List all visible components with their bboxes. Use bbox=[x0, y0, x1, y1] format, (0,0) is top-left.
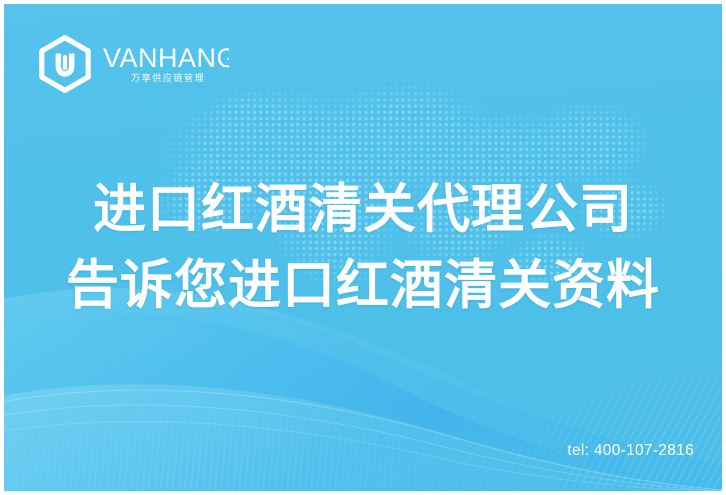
brand-logo[interactable]: VANHANG 万享供应链管理 bbox=[36, 35, 229, 93]
promo-banner: VANHANG 万享供应链管理 进口红酒清关代理公司 告诉您进口红酒清关资料 t… bbox=[0, 0, 726, 495]
vanhang-hexagon-u-logo-icon bbox=[36, 35, 94, 93]
telephone-text: tel: 400-107-2816 bbox=[567, 442, 694, 460]
wordmark-text: VANHANG bbox=[103, 43, 229, 73]
headline-line-2: 告诉您进口红酒清关资料 bbox=[4, 248, 722, 324]
vanhang-wordmark: VANHANG 万享供应链管理 bbox=[103, 41, 229, 87]
headline-line-1: 进口红酒清关代理公司 bbox=[4, 172, 722, 248]
wordmark-subtitle: 万享供应链管理 bbox=[131, 72, 205, 84]
headline: 进口红酒清关代理公司 告诉您进口红酒清关资料 bbox=[4, 172, 722, 324]
